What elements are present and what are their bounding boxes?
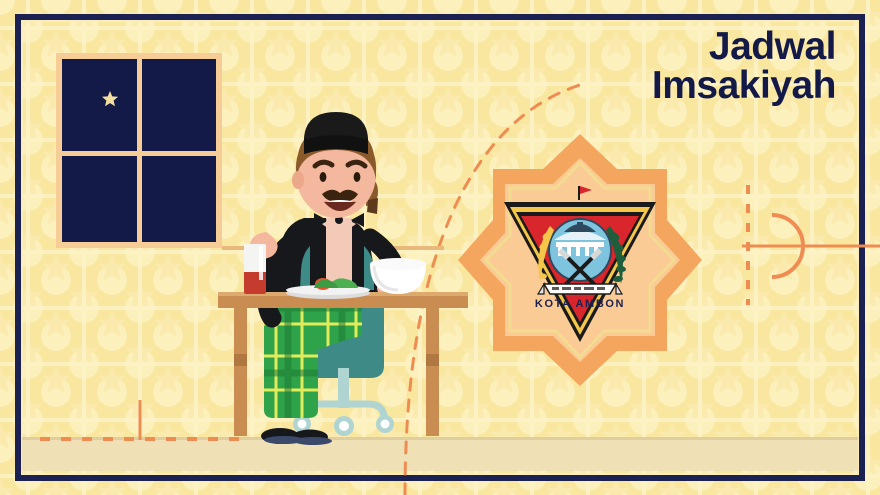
emblem-ribbon <box>538 284 622 294</box>
window-pane-bottom-left <box>62 156 137 242</box>
character-scene <box>218 96 468 456</box>
window-frame <box>56 53 222 248</box>
emblem-badge <box>452 132 708 388</box>
window-pane-top-right <box>142 59 217 151</box>
title-line-2: Imsakiyah <box>652 67 836 106</box>
window-panes <box>62 59 216 242</box>
emblem-caption: KOTA AMBON <box>452 298 708 310</box>
window-pane-bottom-right <box>142 156 217 242</box>
page-title: Jadwal Imsakiyah <box>652 28 836 105</box>
poster-canvas: KOTA AMBON Jadwal Imsakiyah <box>0 0 880 495</box>
title-line-1: Jadwal <box>709 25 836 68</box>
drinking-glass <box>244 244 266 294</box>
crescent-moon-star-icon <box>79 77 127 125</box>
window-pane-top-left <box>62 59 137 151</box>
character-head <box>292 112 378 218</box>
